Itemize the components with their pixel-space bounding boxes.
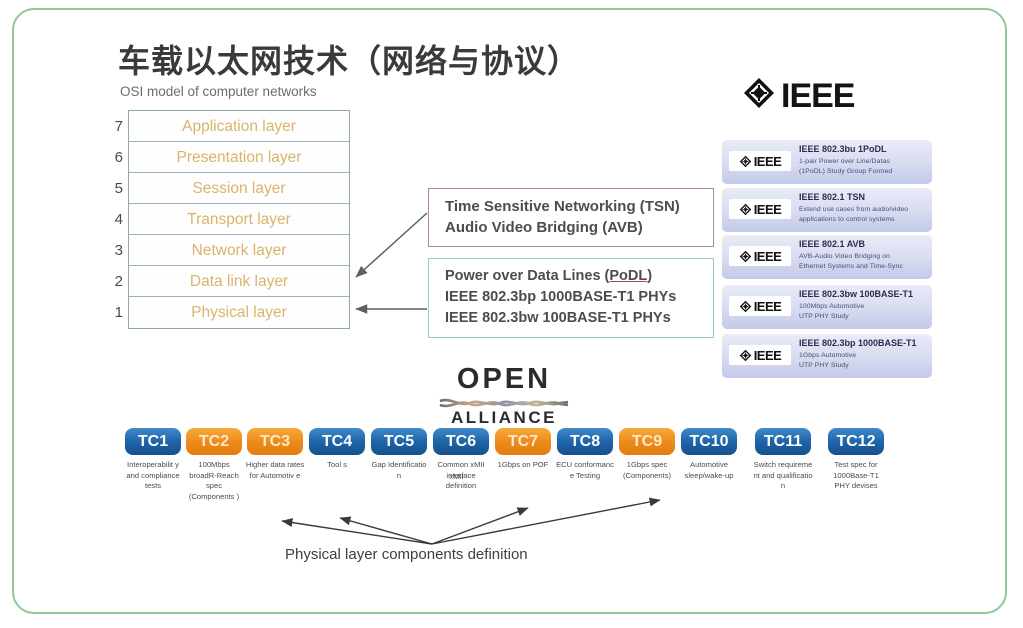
ieee-card-title: IEEE 802.3bu 1PoDL — [799, 144, 887, 154]
ieee-card-802-3bp[interactable]: IEEE IEEE 802.3bp 1000BASE-T1 1Gbps Auto… — [722, 334, 932, 378]
open-alliance-alliance-text: ALLIANCE — [438, 408, 570, 427]
tc-item-tc9[interactable]: TC9 1Gbps spec (Components) — [616, 428, 678, 481]
tc-item-tc10[interactable]: TC10 Automotive sleep/wake-up — [678, 428, 740, 481]
osi-model-stack: 7 Application layer 6 Presentation layer… — [128, 110, 350, 329]
tc-description: Higher data rates for Automotiv e — [244, 460, 306, 481]
osi-layer-2[interactable]: 2 Data link layer — [129, 266, 349, 297]
ieee-badge-text: IEEE — [754, 203, 782, 216]
tc-item-tc5[interactable]: TC5 Gap Identificatio n — [368, 428, 430, 481]
tc-item-tc4[interactable]: TC4 Tool s — [306, 428, 368, 471]
osi-layer-label: Transport layer — [187, 211, 291, 228]
ieee-badge-icon: IEEE — [729, 296, 791, 316]
tc-item-tc7[interactable]: TC7 1Gbps on POF — [492, 428, 554, 471]
tc-item-tc11[interactable]: TC11 Switch requireme nt and qualificati… — [752, 428, 814, 492]
tc-chip-label: TC8 — [557, 428, 613, 455]
ieee-card-802-3bu[interactable]: IEEE IEEE 802.3bu 1PoDL 1-pair Power ove… — [722, 140, 932, 184]
podl-std-100base: IEEE 802.3bw 100BASE-T1 PHYs — [445, 308, 713, 329]
osi-layer-6[interactable]: 6 Presentation layer — [129, 142, 349, 173]
tc-item-tc6[interactable]: TC6 Common xMII interface xMII definitio… — [430, 428, 492, 492]
tc-chip-label: TC3 — [247, 428, 303, 455]
podl-std-1000base: IEEE 802.3bp 1000BASE-T1 PHYs — [445, 287, 713, 308]
open-alliance-logo: OPEN ALLIANCE — [438, 364, 570, 427]
tc-chip-label: TC11 — [755, 428, 811, 455]
tc-description: Common xMII interface xMII definition — [430, 460, 492, 492]
tc-item-tc8[interactable]: TC8 ECU conformanc e Testing — [554, 428, 616, 481]
page-title: 车载以太网技术（网络与协议） — [118, 36, 580, 82]
tc-description: Automotive sleep/wake-up — [678, 460, 740, 481]
ieee-card-sub2: (1PoDL) Study Group Formed — [799, 168, 892, 175]
osi-layer-number: 2 — [105, 266, 123, 297]
ieee-card-title: IEEE 802.3bw 100BASE-T1 — [799, 289, 913, 299]
tc-chip-label: TC12 — [828, 428, 884, 455]
osi-layer-1[interactable]: 1 Physical layer — [129, 297, 349, 328]
podl-term: PoDL — [609, 268, 647, 284]
ieee-card-sub1: 1-pair Power over Line/Datas — [799, 158, 890, 165]
ieee-card-sub2: applications to control systems — [799, 216, 895, 223]
tc-description: Interoperabilit y and compliance tests — [122, 460, 184, 492]
open-alliance-open-text: OPEN — [438, 364, 570, 394]
ieee-card-sub2: Ethernet Systems and Time-Sync — [799, 263, 903, 270]
ieee-badge-text: IEEE — [754, 349, 782, 362]
osi-layer-number: 1 — [105, 297, 123, 328]
osi-layer-label: Physical layer — [191, 304, 287, 321]
ieee-badge-icon: IEEE — [729, 345, 791, 365]
tc-item-tc12[interactable]: TC12 Test spec for 1000Base-T1 PHY devis… — [825, 428, 887, 492]
tc-item-tc2[interactable]: TC2 100Mbps broadR-Reach spec (Component… — [183, 428, 245, 502]
tc-description: Switch requireme nt and qualificatio n — [752, 460, 814, 492]
ieee-card-sub1: 1Gbps Automotive — [799, 352, 856, 359]
tsn-line: Time Sensitive Networking (TSN) — [445, 196, 713, 217]
tc6-overlap-b: xMII — [449, 472, 463, 483]
ieee-card-sub1: 100Mbps Automotive — [799, 303, 864, 310]
ieee-card-title: IEEE 802.1 AVB — [799, 239, 865, 249]
ieee-wordmark: IEEE — [781, 79, 854, 113]
ieee-card-title: IEEE 802.1 TSN — [799, 192, 865, 202]
tc-description: 100Mbps broadR-Reach spec (Components ) — [183, 460, 245, 502]
tc-chip-label: TC4 — [309, 428, 365, 455]
tc6-desc-pre: Common xMII — [437, 460, 484, 469]
tc-item-tc1[interactable]: TC1 Interoperabilit y and compliance tes… — [122, 428, 184, 492]
ieee-diamond-icon — [742, 76, 776, 115]
podl-line: Power over Data Lines (PoDL) — [445, 266, 713, 287]
ieee-card-802-1-avb[interactable]: IEEE IEEE 802.1 AVB AVB-Audio Video Brid… — [722, 235, 932, 279]
osi-layer-number: 7 — [105, 111, 123, 142]
osi-layer-label: Session layer — [192, 180, 285, 197]
tc-description: Gap Identificatio n — [368, 460, 430, 481]
tc-description: ECU conformanc e Testing — [554, 460, 616, 481]
ieee-card-title: IEEE 802.3bp 1000BASE-T1 — [799, 338, 917, 348]
tc-description: Tool s — [306, 460, 368, 471]
podl-text-prefix: Power over Data Lines ( — [445, 268, 609, 284]
ieee-badge-text: IEEE — [754, 155, 782, 168]
osi-layer-3[interactable]: 3 Network layer — [129, 235, 349, 266]
tc-chip-label: TC5 — [371, 428, 427, 455]
osi-layer-7[interactable]: 7 Application layer — [129, 111, 349, 142]
osi-layer-label: Data link layer — [190, 273, 288, 290]
osi-layer-number: 4 — [105, 204, 123, 235]
tc-description: 1Gbps on POF — [492, 460, 554, 471]
ieee-logo: IEEE — [742, 76, 854, 115]
podl-text-suffix: ) — [647, 268, 652, 284]
podl-callout: Power over Data Lines (PoDL) IEEE 802.3b… — [428, 258, 714, 338]
bottom-caption: Physical layer components definition — [285, 546, 528, 563]
tc-description: Test spec for 1000Base-T1 PHY devises — [825, 460, 887, 492]
tsn-avb-callout: Time Sensitive Networking (TSN) Audio Vi… — [428, 188, 714, 247]
ieee-card-sub1: AVB-Audio Video Bridging on — [799, 253, 890, 260]
ieee-card-802-3bw[interactable]: IEEE IEEE 802.3bw 100BASE-T1 100Mbps Aut… — [722, 285, 932, 329]
ieee-card-sub2: UTP PHY Study — [799, 362, 849, 369]
tc-chip-label: TC2 — [186, 428, 242, 455]
ieee-card-802-1-tsn[interactable]: IEEE IEEE 802.1 TSN Extend use cases fro… — [722, 188, 932, 232]
osi-layer-number: 6 — [105, 142, 123, 173]
osi-layer-label: Presentation layer — [177, 149, 302, 166]
ieee-badge-text: IEEE — [754, 300, 782, 313]
tc-item-tc3[interactable]: TC3 Higher data rates for Automotiv e — [244, 428, 306, 481]
tc-description: 1Gbps spec (Components) — [616, 460, 678, 481]
ieee-card-sub1: Extend use cases from audio/video — [799, 206, 908, 213]
osi-layer-number: 3 — [105, 235, 123, 266]
osi-layer-number: 5 — [105, 173, 123, 204]
osi-caption: OSI model of computer networks — [120, 84, 317, 99]
tc-chip-label: TC6 — [433, 428, 489, 455]
avb-line: Audio Video Bridging (AVB) — [445, 217, 713, 238]
tc6-desc-post: definition — [446, 481, 476, 490]
osi-layer-label: Network layer — [192, 242, 287, 259]
ieee-badge-text: IEEE — [754, 250, 782, 263]
osi-layer-4[interactable]: 4 Transport layer — [129, 204, 349, 235]
osi-layer-label: Application layer — [182, 118, 296, 135]
ieee-badge-icon: IEEE — [729, 199, 791, 219]
tc-chip-label: TC1 — [125, 428, 181, 455]
ieee-card-sub2: UTP PHY Study — [799, 313, 849, 320]
ieee-badge-icon: IEEE — [729, 151, 791, 171]
ieee-badge-icon: IEEE — [729, 246, 791, 266]
tc-chip-label: TC10 — [681, 428, 737, 455]
tc6-desc-overlap: interface xMII — [446, 471, 475, 482]
tc-chip-label: TC9 — [619, 428, 675, 455]
twisted-pair-icon — [438, 396, 570, 407]
tc-chip-label: TC7 — [495, 428, 551, 455]
osi-layer-5[interactable]: 5 Session layer — [129, 173, 349, 204]
